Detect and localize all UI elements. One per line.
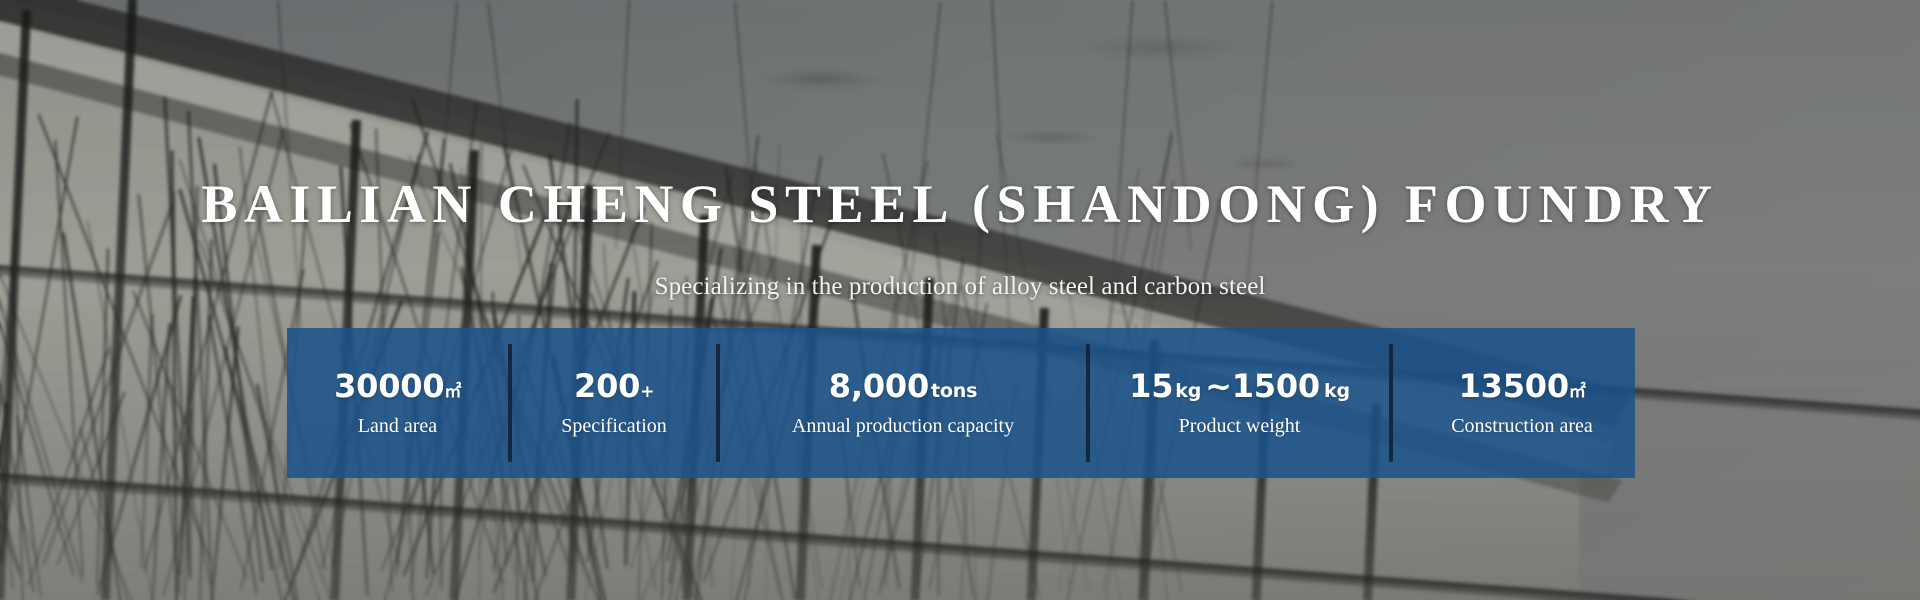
stat-unit: ㎡: [1569, 382, 1586, 402]
stat-label: Land area: [358, 416, 437, 436]
stat-label: Construction area: [1451, 416, 1593, 436]
stat-value: 30000㎡: [334, 370, 461, 402]
stat-value: 8,000tons: [829, 370, 977, 402]
stat-number: 30000: [334, 367, 444, 405]
stat-value: 200+: [574, 370, 654, 402]
stat-unit: tons: [931, 380, 977, 402]
stat-item: 15kg~1500kgProduct weight: [1090, 328, 1389, 478]
stat-unit: ㎡: [444, 382, 461, 402]
stats-bar: 30000㎡Land area200+Specification8,000ton…: [287, 328, 1635, 478]
stat-range-value: ~1500: [1205, 367, 1320, 405]
stat-item: 13500㎡Construction area: [1393, 328, 1651, 478]
hero-content: BAILIAN CHENG STEEL (SHANDONG) FOUNDRY S…: [0, 0, 1920, 600]
stat-item: 200+Specification: [512, 328, 716, 478]
hero-banner: BAILIAN CHENG STEEL (SHANDONG) FOUNDRY S…: [0, 0, 1920, 600]
page-title: BAILIAN CHENG STEEL (SHANDONG) FOUNDRY: [0, 176, 1920, 233]
stat-value: 13500㎡: [1459, 370, 1586, 402]
stat-number: 8,000: [829, 367, 929, 405]
stat-label: Specification: [561, 416, 667, 436]
stat-unit: +: [640, 382, 654, 402]
stat-unit: kg: [1175, 380, 1201, 402]
stat-item: 8,000tonsAnnual production capacity: [720, 328, 1086, 478]
stat-number: 200: [574, 367, 640, 405]
stat-number: 13500: [1459, 367, 1569, 405]
stat-label: Product weight: [1179, 416, 1301, 436]
stat-item: 30000㎡Land area: [287, 328, 508, 478]
stat-value: 15kg~1500kg: [1129, 370, 1350, 402]
stat-unit-secondary: kg: [1324, 380, 1350, 402]
stat-label: Annual production capacity: [792, 416, 1014, 436]
page-subtitle: Specializing in the production of alloy …: [0, 273, 1920, 301]
stat-number: 15: [1129, 367, 1173, 405]
